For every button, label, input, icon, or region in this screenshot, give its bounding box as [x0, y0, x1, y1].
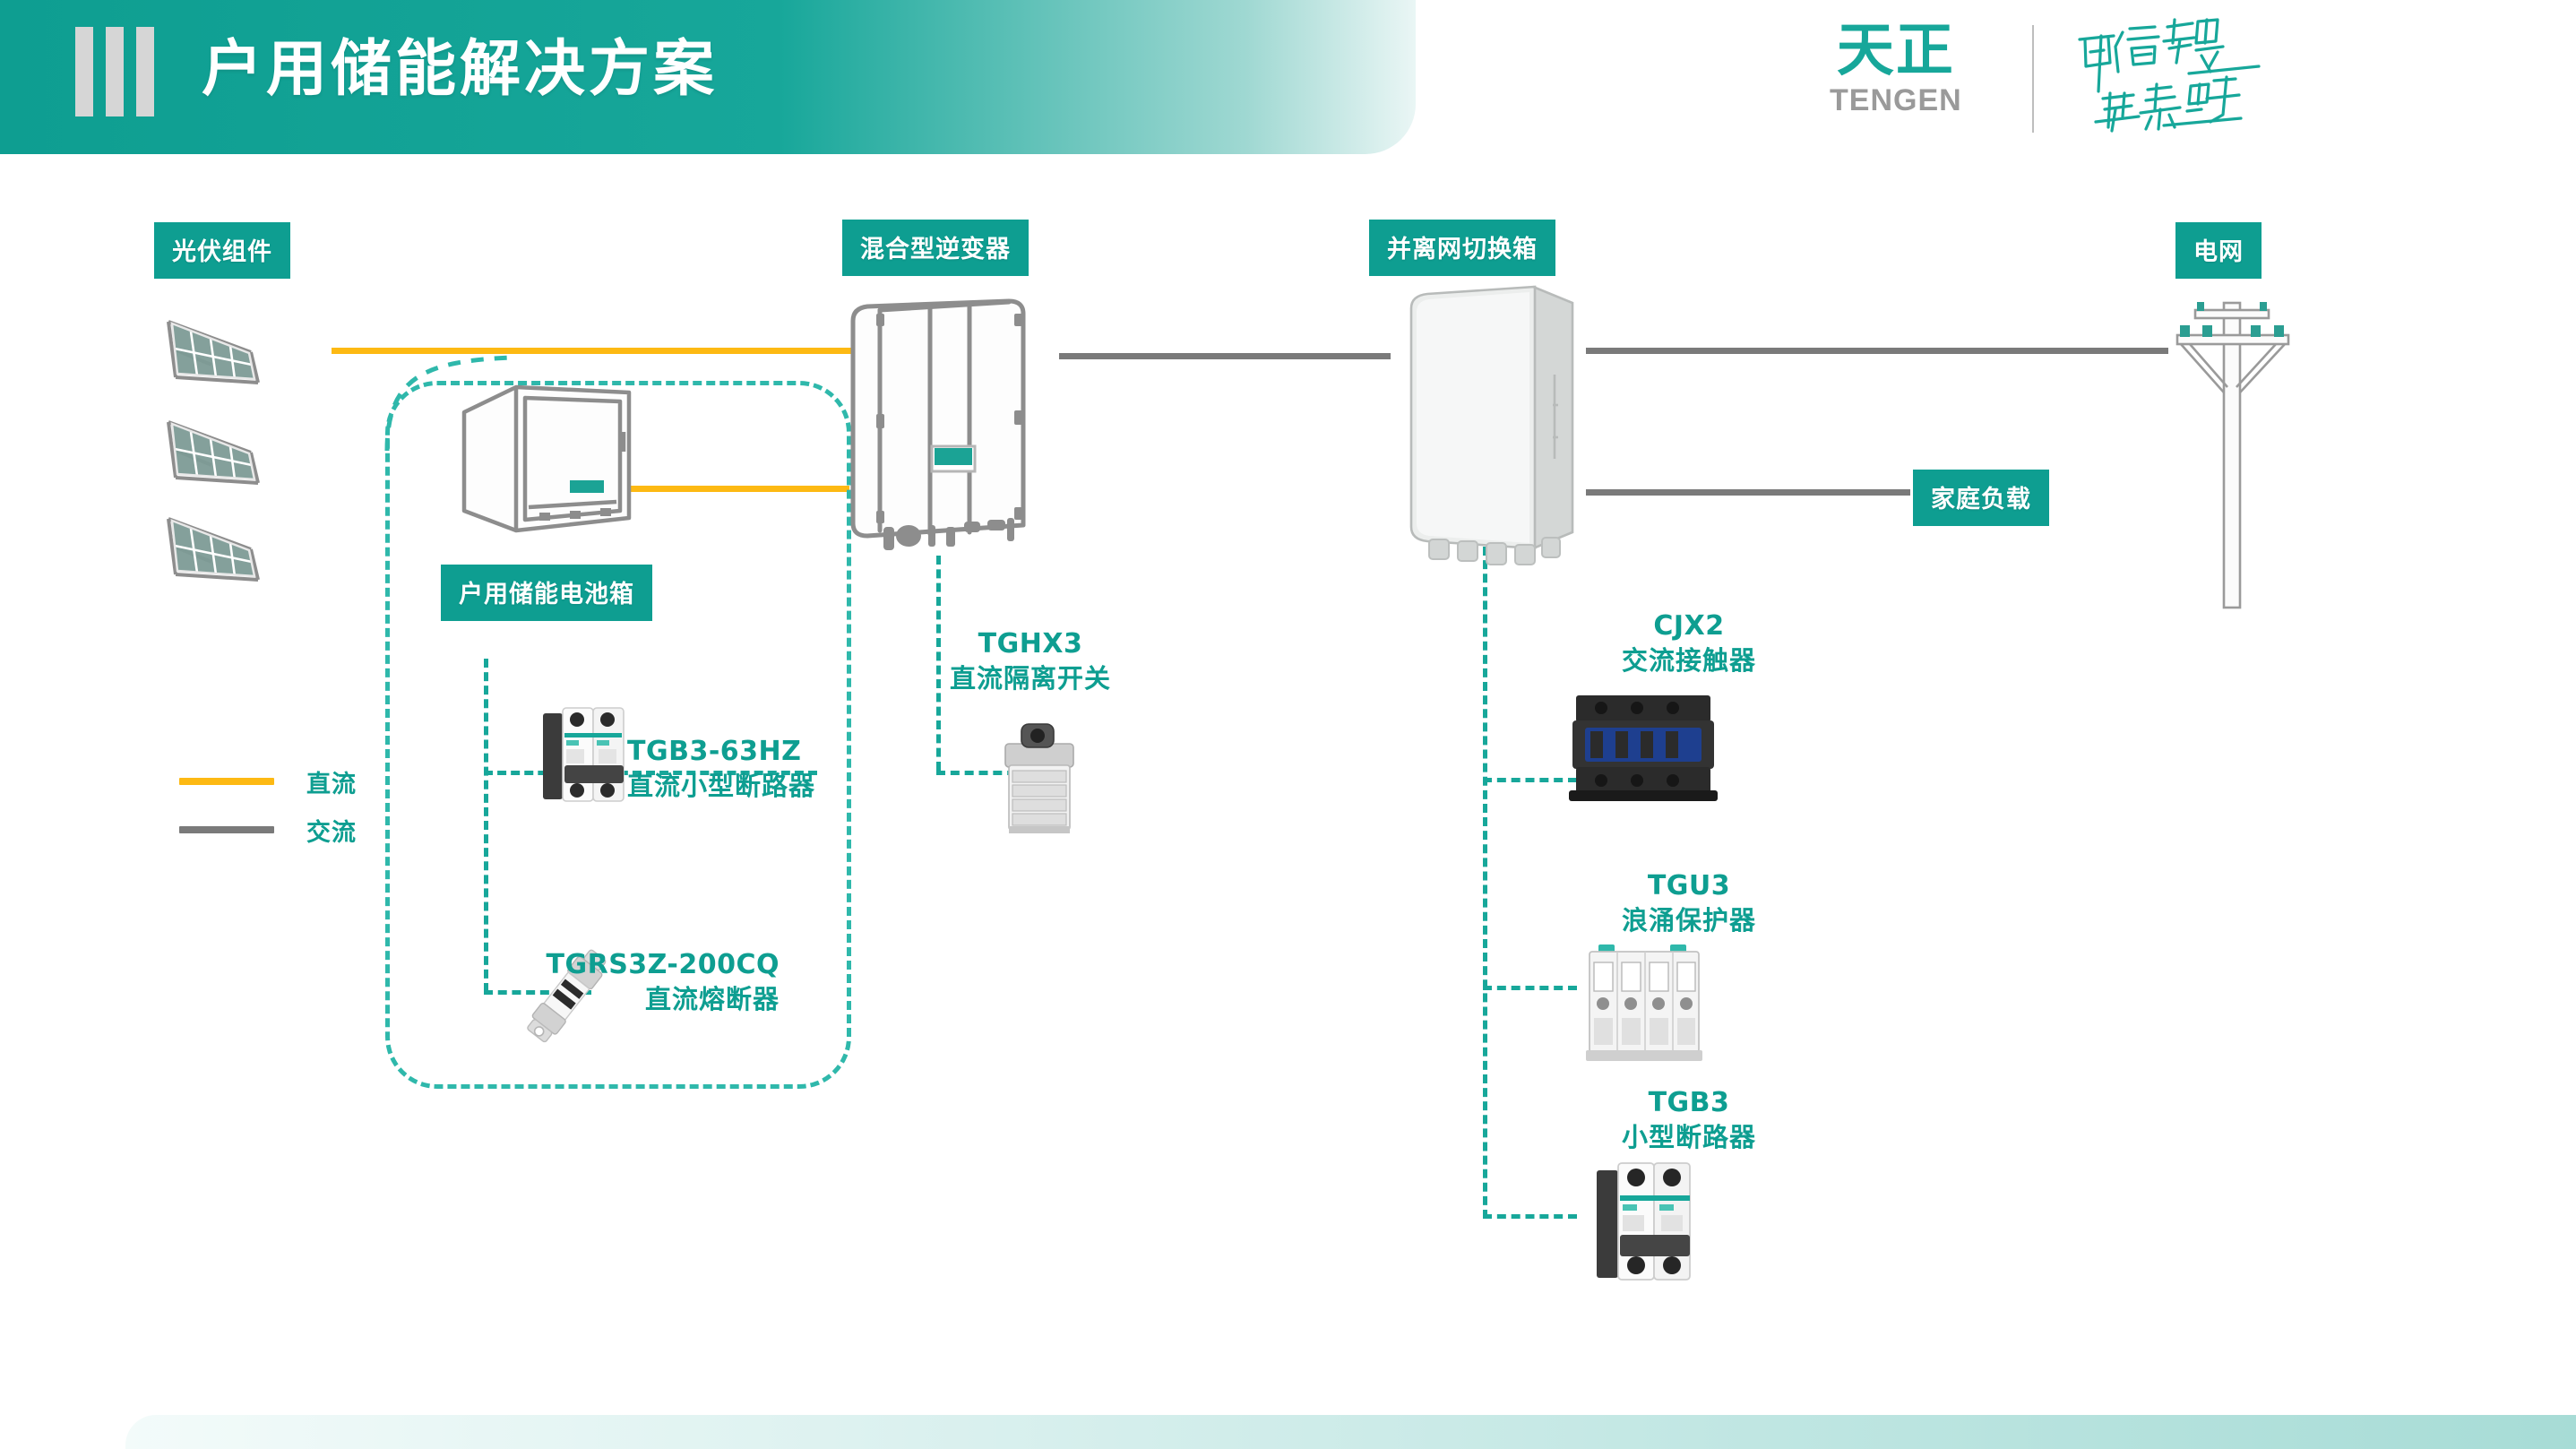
product-label-tgu3: TGU3 浪涌保护器 [1555, 869, 1823, 937]
line-inverter-to-switchbox-ac [1059, 353, 1391, 359]
logo-brand-block: 天正 TENGEN [1830, 22, 1962, 118]
solar-panel-icon [161, 506, 267, 585]
surge-protector-icon [1577, 941, 1711, 1066]
stage-label-switchbox: 并离网切换箱 [1369, 220, 1555, 276]
isolator-switch-icon [986, 717, 1093, 842]
page-header: 户用储能解决方案 [0, 0, 1416, 154]
logo-slogan-handwriting: 可信赖 更美好 [2074, 16, 2289, 133]
leader-pv-curve-to-battery [369, 345, 513, 453]
product-model-tghx3: TGHX3 [896, 627, 1165, 661]
product-desc-tgb3: 小型断路器 [1555, 1120, 1823, 1154]
line-switchbox-to-grid-ac [1586, 348, 2168, 354]
stage-label-grid: 电网 [2175, 222, 2262, 279]
product-model-tgrs3z-200cq: TGRS3Z-200CQ [376, 948, 780, 982]
company-logo: 天正 TENGEN [1416, 0, 2576, 154]
header-bar-2 [106, 27, 124, 116]
header-bar-3 [136, 27, 154, 116]
product-desc-cjx2: 交流接触器 [1555, 643, 1823, 677]
product-label-cjx2: CJX2 交流接触器 [1555, 609, 1823, 677]
leader-battery-box-vertical [484, 659, 488, 992]
line-switchbox-to-homeload-ac [1586, 489, 1910, 496]
mcb-dc-icon [529, 701, 633, 808]
header-bar-1 [75, 27, 93, 116]
logo-brand-cn: 天正 [1830, 22, 1962, 81]
logo-divider [2032, 25, 2034, 133]
solar-panel-icon [161, 309, 267, 388]
legend-swatch-dc [179, 778, 274, 785]
contactor-icon [1564, 690, 1725, 806]
utility-pole-icon [2150, 287, 2312, 618]
switching-box-icon [1375, 280, 1590, 566]
page-title: 户用储能解决方案 [202, 20, 718, 118]
header-bars-decoration [75, 27, 154, 116]
leader-switchbox-vertical [1483, 547, 1487, 1219]
legend-label-ac: 交流 [306, 813, 357, 848]
product-label-tgrs3z-200cq: TGRS3Z-200CQ 直流熔断器 [376, 948, 780, 1016]
product-model-cjx2: CJX2 [1555, 609, 1823, 643]
logo-brand-en: TENGEN [1830, 82, 1962, 118]
stage-label-home-load: 家庭负载 [1913, 470, 2049, 526]
legend-item-ac: 交流 [179, 806, 357, 854]
product-label-tgb3-63hz: TGB3-63HZ 直流小型断路器 [627, 735, 815, 803]
product-model-tgu3: TGU3 [1555, 869, 1823, 903]
product-desc-tgb3-63hz: 直流小型断路器 [627, 769, 815, 803]
product-model-tgb3-63hz: TGB3-63HZ [627, 735, 815, 769]
hybrid-inverter-icon [833, 296, 1066, 556]
stage-label-pv: 光伏组件 [154, 222, 290, 279]
stage-label-inverter: 混合型逆变器 [842, 220, 1029, 276]
leader-to-tgb3 [1483, 1214, 1577, 1219]
product-model-tgb3: TGB3 [1555, 1086, 1823, 1120]
legend: 直流 交流 [179, 757, 357, 854]
solar-panel-icon [161, 410, 267, 488]
legend-label-dc: 直流 [306, 764, 357, 799]
legend-swatch-ac [179, 826, 274, 833]
product-desc-tgu3: 浪涌保护器 [1555, 903, 1823, 937]
mcb-icon [1584, 1156, 1701, 1290]
product-label-tghx3: TGHX3 直流隔离开关 [896, 627, 1165, 695]
product-desc-tghx3: 直流隔离开关 [896, 661, 1165, 695]
page-footer-decoration [125, 1415, 2576, 1449]
product-desc-tgrs3z-200cq: 直流熔断器 [376, 982, 780, 1016]
legend-item-dc: 直流 [179, 757, 357, 806]
product-label-tgb3: TGB3 小型断路器 [1555, 1086, 1823, 1154]
leader-to-tgu3 [1483, 986, 1577, 990]
